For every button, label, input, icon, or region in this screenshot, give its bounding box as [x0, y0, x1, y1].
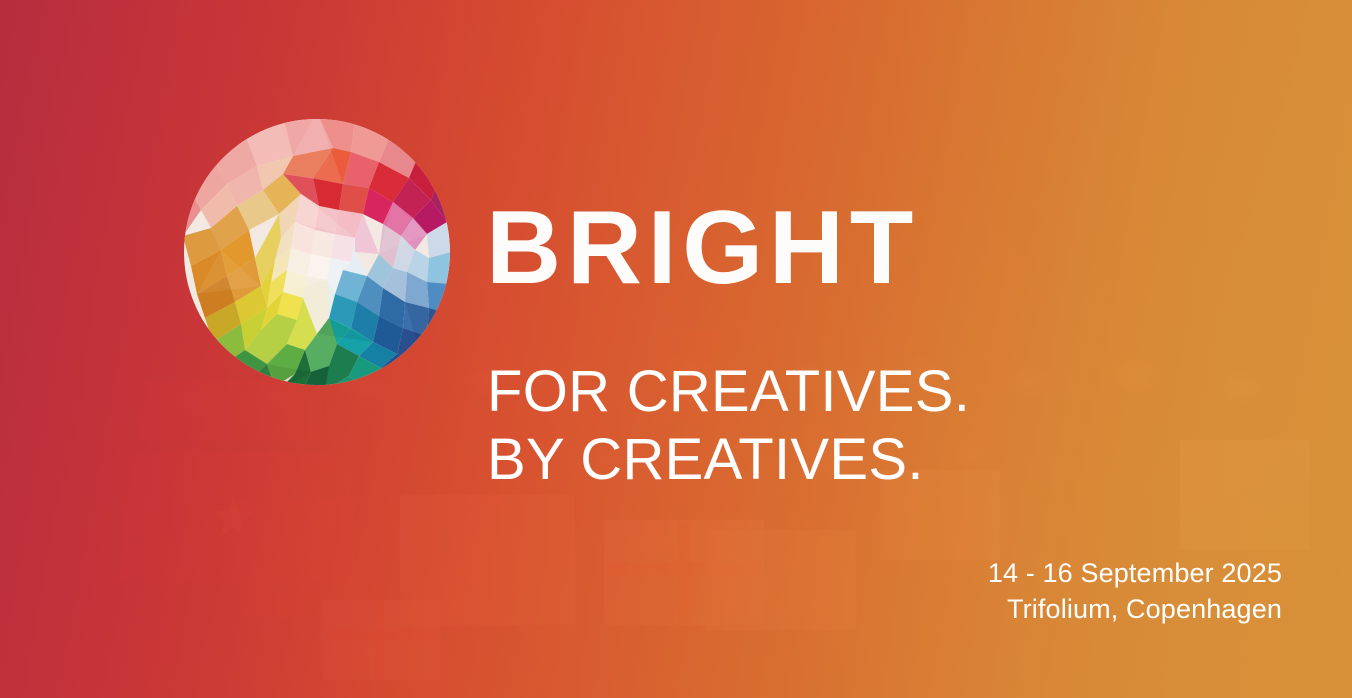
page-title: BRIGHT — [486, 196, 919, 300]
event-details: 14 - 16 September 2025 Trifolium, Copenh… — [988, 556, 1282, 627]
tagline-line-1: FOR CREATIVES. — [487, 358, 970, 426]
tagline-line-2: BY CREATIVES. — [487, 426, 970, 494]
tagline: FOR CREATIVES. BY CREATIVES. — [487, 358, 970, 494]
bright-event-banner: BRIGHT FOR CREATIVES. BY CREATIVES. 14 -… — [0, 0, 1352, 698]
event-venue: Trifolium, Copenhagen — [988, 592, 1282, 628]
bright-logo — [183, 118, 451, 386]
event-dates: 14 - 16 September 2025 — [988, 556, 1282, 592]
